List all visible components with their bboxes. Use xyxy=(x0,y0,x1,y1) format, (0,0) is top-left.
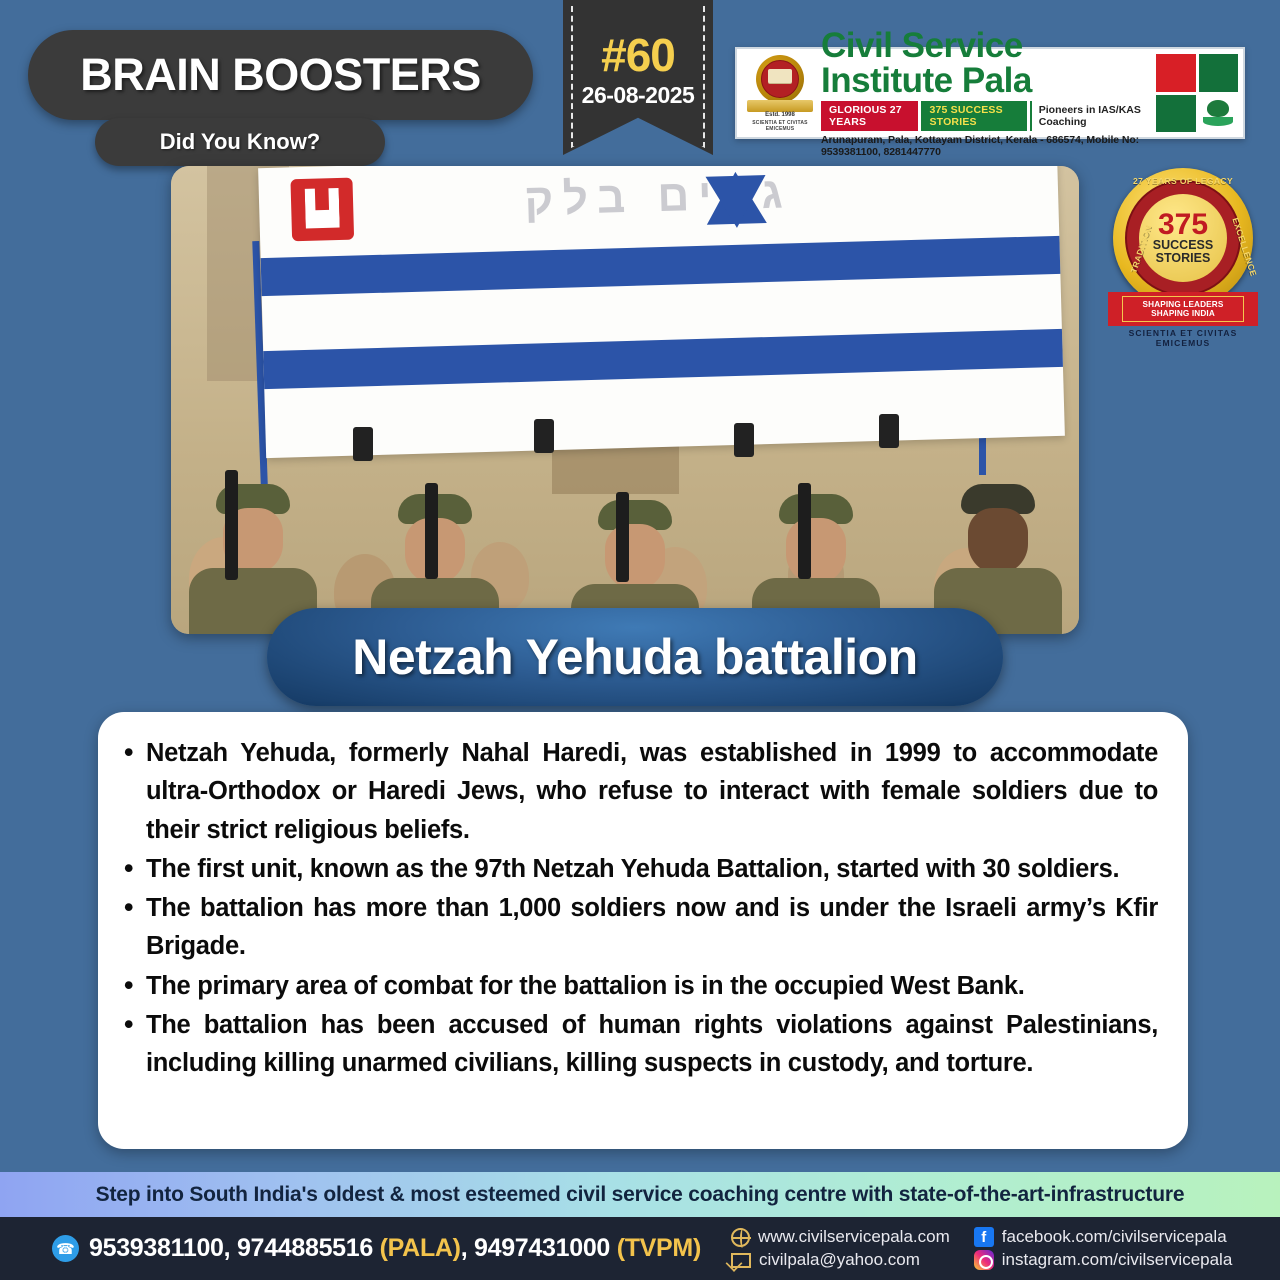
institute-emblem-icon: Estd. 1998 SCIENTIA ET CIVITAS EMICEMUS xyxy=(743,53,817,133)
leaf-icon xyxy=(1203,100,1233,126)
seal-sub-label: SCIENTIA ET CIVITAS EMICEMUS xyxy=(1100,328,1266,348)
footer-website[interactable]: www.civilservicepala.com xyxy=(731,1227,950,1247)
footer-email[interactable]: civilpala@yahoo.com xyxy=(731,1250,950,1270)
brain-boosters-title: BRAIN BOOSTERS xyxy=(28,30,533,120)
phone-label-pala: (PALA) xyxy=(380,1234,461,1262)
badge-glorious-years: GLORIOUS 27 YEARS xyxy=(821,101,918,131)
facts-list: Netzah Yehuda, formerly Nahal Haredi, wa… xyxy=(112,734,1158,1082)
main-photo: גאים בלק xyxy=(171,166,1079,634)
list-item: The first unit, known as the 97th Netzah… xyxy=(112,850,1158,888)
institute-address: Arunapuram, Pala, Kottayam District, Ker… xyxy=(821,134,1156,158)
institute-banner: Estd. 1998 SCIENTIA ET CIVITAS EMICEMUS … xyxy=(735,47,1245,139)
page-title: Netzah Yehuda battalion xyxy=(267,608,1003,706)
instagram-icon xyxy=(974,1250,994,1270)
success-stories-seal: 375 SUCCESS STORIES 27 YEARS OF LEGACY T… xyxy=(1108,168,1258,353)
list-item: The primary area of combat for the batta… xyxy=(112,967,1158,1005)
seal-success-label: SUCCESS xyxy=(1153,239,1213,252)
phone-numbers: 9539381100, 9744885516 (PALA), 949743100… xyxy=(89,1234,701,1263)
brain-boosters-label: BRAIN BOOSTERS xyxy=(80,49,481,101)
badge-pioneers: Pioneers in IAS/KAS Coaching xyxy=(1030,101,1156,131)
emblem-estd-label: Estd. 1998 xyxy=(743,112,817,118)
badge-success-stories: 375 SUCCESS STORIES xyxy=(921,101,1026,131)
seal-arc-top: 27 YEARS OF LEGACY xyxy=(1108,176,1258,186)
page-title-label: Netzah Yehuda battalion xyxy=(352,628,917,686)
crowd-of-soldiers xyxy=(171,419,1079,634)
emblem-motto-label: SCIENTIA ET CIVITAS EMICEMUS xyxy=(743,120,817,132)
institute-logo-grid-icon xyxy=(1156,54,1238,132)
list-item: Netzah Yehuda, formerly Nahal Haredi, wa… xyxy=(112,734,1158,849)
footer-phones: ☎ 9539381100, 9744885516 (PALA), 9497431… xyxy=(52,1234,701,1263)
star-of-david-icon xyxy=(706,171,768,229)
footer-facebook[interactable]: f facebook.com/civilservicepala xyxy=(974,1227,1233,1247)
website-label: www.civilservicepala.com xyxy=(758,1227,950,1247)
did-you-know-pill: Did You Know? xyxy=(95,118,385,166)
list-item: The battalion has been accused of human … xyxy=(112,1006,1158,1083)
globe-icon xyxy=(731,1228,750,1247)
phone-numbers-tvpm: , 9497431000 xyxy=(461,1234,617,1262)
list-item: The battalion has more than 1,000 soldie… xyxy=(112,889,1158,966)
footer-bar: ☎ 9539381100, 9744885516 (PALA), 9497431… xyxy=(0,1217,1280,1280)
issue-date: 26-08-2025 xyxy=(563,82,713,109)
instagram-label: instagram.com/civilservicepala xyxy=(1002,1250,1233,1270)
email-label: civilpala@yahoo.com xyxy=(759,1250,920,1270)
tagline-bar: Step into South India's oldest & most es… xyxy=(0,1172,1280,1217)
phone-numbers-pala: 9539381100, 9744885516 xyxy=(89,1234,380,1262)
phone-label-tvpm: (TVPM) xyxy=(617,1234,701,1262)
institute-name: Civil Service Institute Pala xyxy=(821,28,1156,98)
facebook-label: facebook.com/civilservicepala xyxy=(1002,1227,1227,1247)
tagline-label: Step into South India's oldest & most es… xyxy=(96,1183,1185,1207)
facebook-icon: f xyxy=(974,1227,994,1247)
content-card: Netzah Yehuda, formerly Nahal Haredi, wa… xyxy=(98,712,1188,1149)
israeli-flag-banner: גאים בלק xyxy=(258,166,1065,458)
seal-stories-label: STORIES xyxy=(1156,252,1211,265)
did-you-know-label: Did You Know? xyxy=(160,129,321,155)
seal-ribbon-label: SHAPING LEADERS SHAPING INDIA xyxy=(1123,300,1243,318)
mail-icon xyxy=(731,1253,751,1268)
footer-instagram[interactable]: instagram.com/civilservicepala xyxy=(974,1250,1233,1270)
phone-icon: ☎ xyxy=(52,1235,79,1262)
issue-number: #60 xyxy=(563,28,713,82)
flag-emblem-icon xyxy=(290,177,354,241)
seal-number: 375 xyxy=(1158,211,1208,239)
